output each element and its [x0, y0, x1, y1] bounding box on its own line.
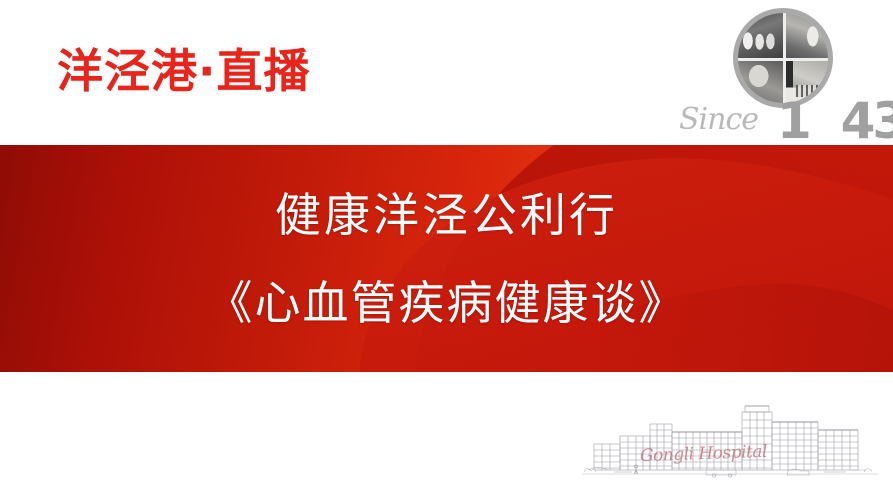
slide-header: 洋泾港·直播 Since 1943 — [0, 0, 893, 145]
slide-canvas: 洋泾港·直播 Since 1943 健康洋泾 — [0, 0, 893, 500]
logo-year-prefix: 1 — [777, 92, 809, 150]
slide-footer: Gongli Hospital — [0, 372, 893, 500]
slide-title-secondary: 《心血管疾病健康谈》 — [207, 280, 687, 326]
hospital-logo: Since 1943 — [671, 4, 871, 144]
logo-year-hidden-digit: 9 — [809, 92, 841, 150]
logo-year-suffix: 43 — [841, 92, 893, 150]
logo-year: 1943 — [777, 96, 893, 146]
logo-since-label: Since — [679, 102, 758, 137]
brand-title: 洋泾港·直播 — [57, 48, 310, 94]
logo-divider-vertical — [783, 13, 786, 103]
banner-text-group: 健康洋泾公利行 《心血管疾病健康谈》 — [0, 145, 893, 372]
hospital-building-illustration: Gongli Hospital — [580, 400, 880, 480]
logo-photo-top-left — [738, 13, 783, 58]
red-banner: 健康洋泾公利行 《心血管疾病健康谈》 — [0, 145, 893, 372]
logo-photo-top-right — [783, 13, 828, 58]
hospital-building-svg — [580, 400, 880, 480]
slide-title-primary: 健康洋泾公利行 — [275, 192, 618, 238]
